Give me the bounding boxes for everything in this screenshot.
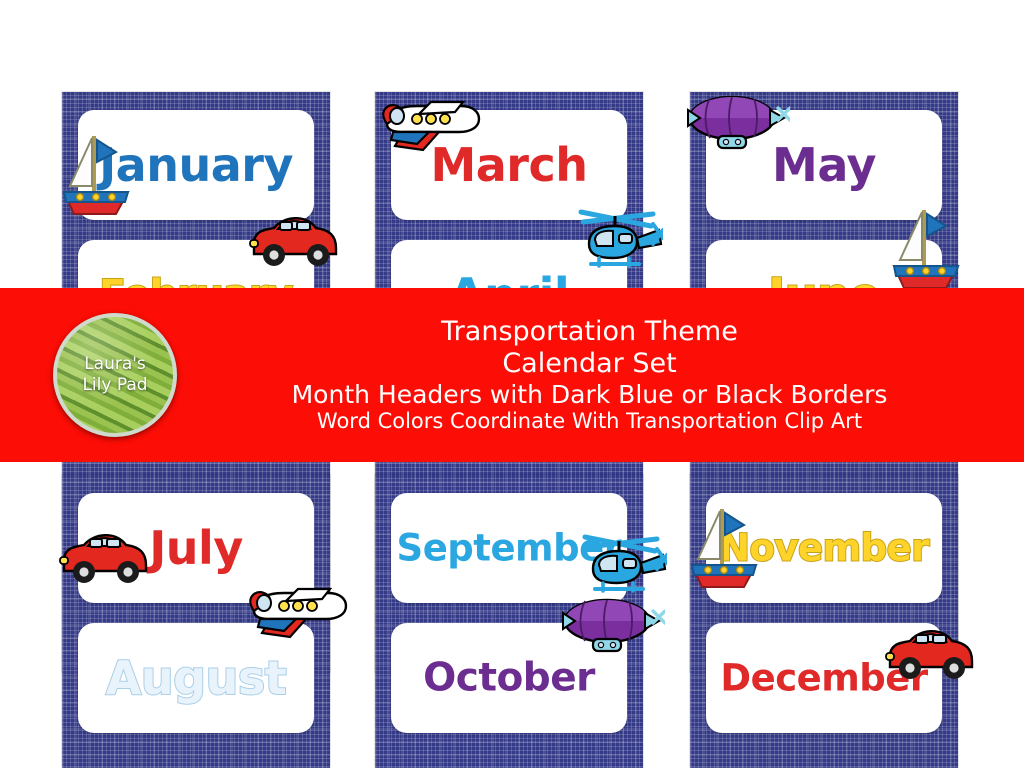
card-sep-oct[interactable]: September October xyxy=(375,475,643,768)
month-label-august: August xyxy=(78,655,314,701)
banner-line-3: Month Headers with Dark Blue or Black Bo… xyxy=(292,380,888,410)
month-label-october: October xyxy=(391,659,627,698)
month-plate-december[interactable]: December xyxy=(706,623,942,733)
card-nov-dec[interactable]: November December Laura's Lily Pad xyxy=(690,475,958,768)
month-label-september: September xyxy=(391,530,627,567)
logo-line-2: Lily Pad xyxy=(82,375,147,396)
month-plate-august[interactable]: August xyxy=(78,623,314,733)
month-plate-january[interactable]: January xyxy=(78,110,314,220)
poster-canvas: January February Laura's Lily Pad xyxy=(0,0,1024,768)
month-label-july: July xyxy=(78,525,314,571)
banner-line-2: Calendar Set xyxy=(502,348,676,380)
month-plate-november[interactable]: November xyxy=(706,493,942,603)
month-label-january: January xyxy=(78,142,314,188)
month-plate-october[interactable]: October xyxy=(391,623,627,733)
banner-line-4: Word Colors Coordinate With Transportati… xyxy=(317,409,862,434)
month-label-march: March xyxy=(391,142,627,188)
month-plate-may[interactable]: May xyxy=(706,110,942,220)
promo-banner-text: Transportation Theme Calendar Set Month … xyxy=(175,288,1004,462)
logo-line-1: Laura's xyxy=(84,354,146,375)
card-jul-aug[interactable]: July August Laura's Lily Pad xyxy=(62,475,330,768)
month-label-december: December xyxy=(706,660,942,697)
lauras-lily-pad-logo[interactable]: Laura's Lily Pad xyxy=(53,313,177,437)
month-label-november: November xyxy=(706,530,942,567)
month-plate-july[interactable]: July xyxy=(78,493,314,603)
month-plate-september[interactable]: September xyxy=(391,493,627,603)
month-plate-march[interactable]: March xyxy=(391,110,627,220)
month-label-may: May xyxy=(706,142,942,188)
banner-line-1: Transportation Theme xyxy=(441,316,738,348)
